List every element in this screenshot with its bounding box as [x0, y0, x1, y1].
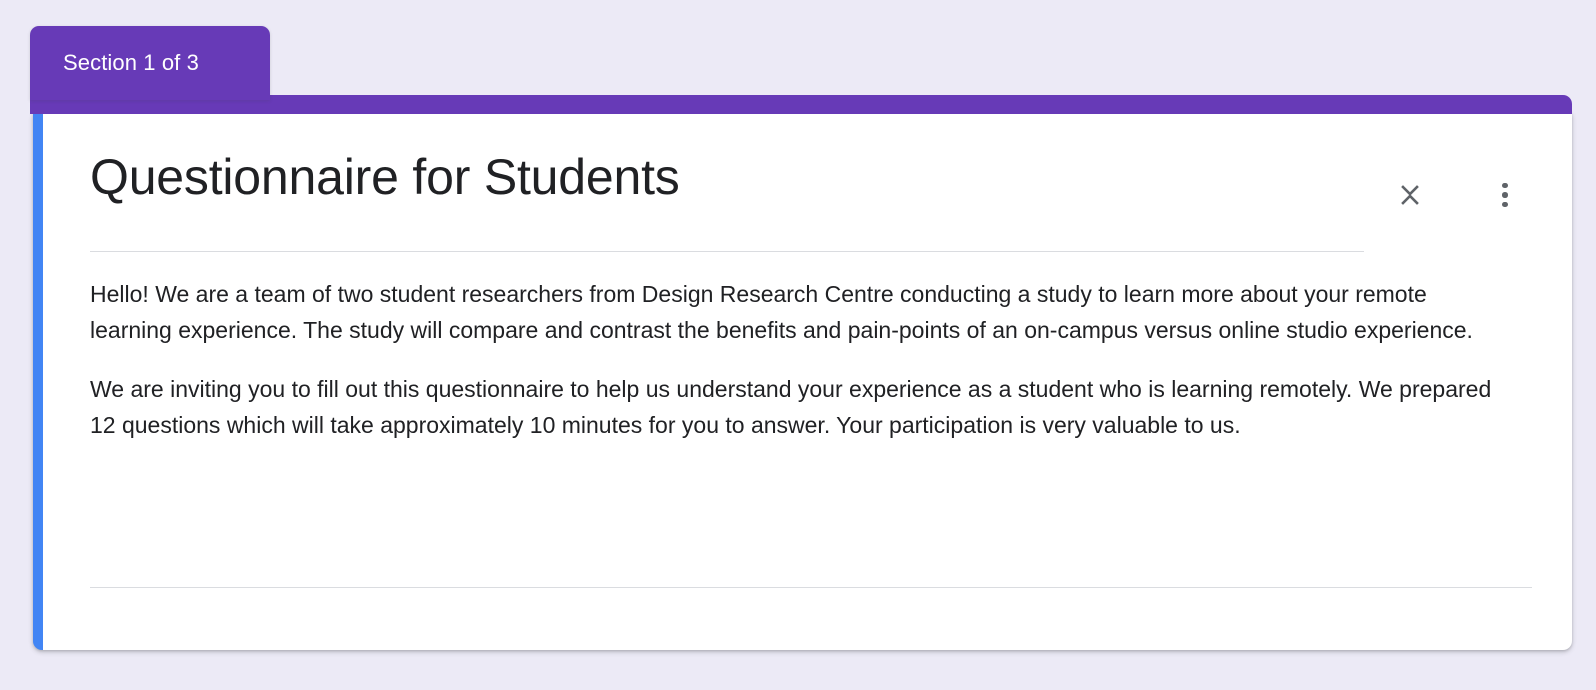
page-title: Questionnaire for Students: [90, 149, 680, 207]
card-inner: Questionnaire for Students: [43, 113, 1572, 650]
section-tab-label: Section 1 of 3: [30, 52, 199, 74]
description-paragraph-2: We are inviting you to fill out this que…: [90, 371, 1500, 444]
section-tab[interactable]: Section 1 of 3: [30, 26, 270, 100]
description-paragraph-1: Hello! We are a team of two student rese…: [90, 276, 1500, 349]
title-row: Questionnaire for Students: [90, 149, 1556, 207]
kebab-dot-3: [1502, 202, 1508, 208]
footer-divider: [90, 587, 1532, 588]
title-divider: [90, 251, 1364, 252]
collapse-chevrons-icon: [1399, 182, 1421, 208]
google-forms-section-view: Section 1 of 3 Questionnaire for Student…: [0, 0, 1596, 690]
form-description[interactable]: Hello! We are a team of two student rese…: [90, 276, 1500, 443]
collapse-section-button[interactable]: [1388, 173, 1432, 217]
more-options-button[interactable]: [1483, 173, 1527, 217]
kebab-dot-2: [1502, 192, 1508, 198]
kebab-dot-1: [1502, 183, 1508, 189]
kebab-menu-icon: [1502, 182, 1508, 208]
form-section-card[interactable]: Questionnaire for Students: [33, 113, 1572, 650]
header-actions: [1388, 173, 1572, 221]
